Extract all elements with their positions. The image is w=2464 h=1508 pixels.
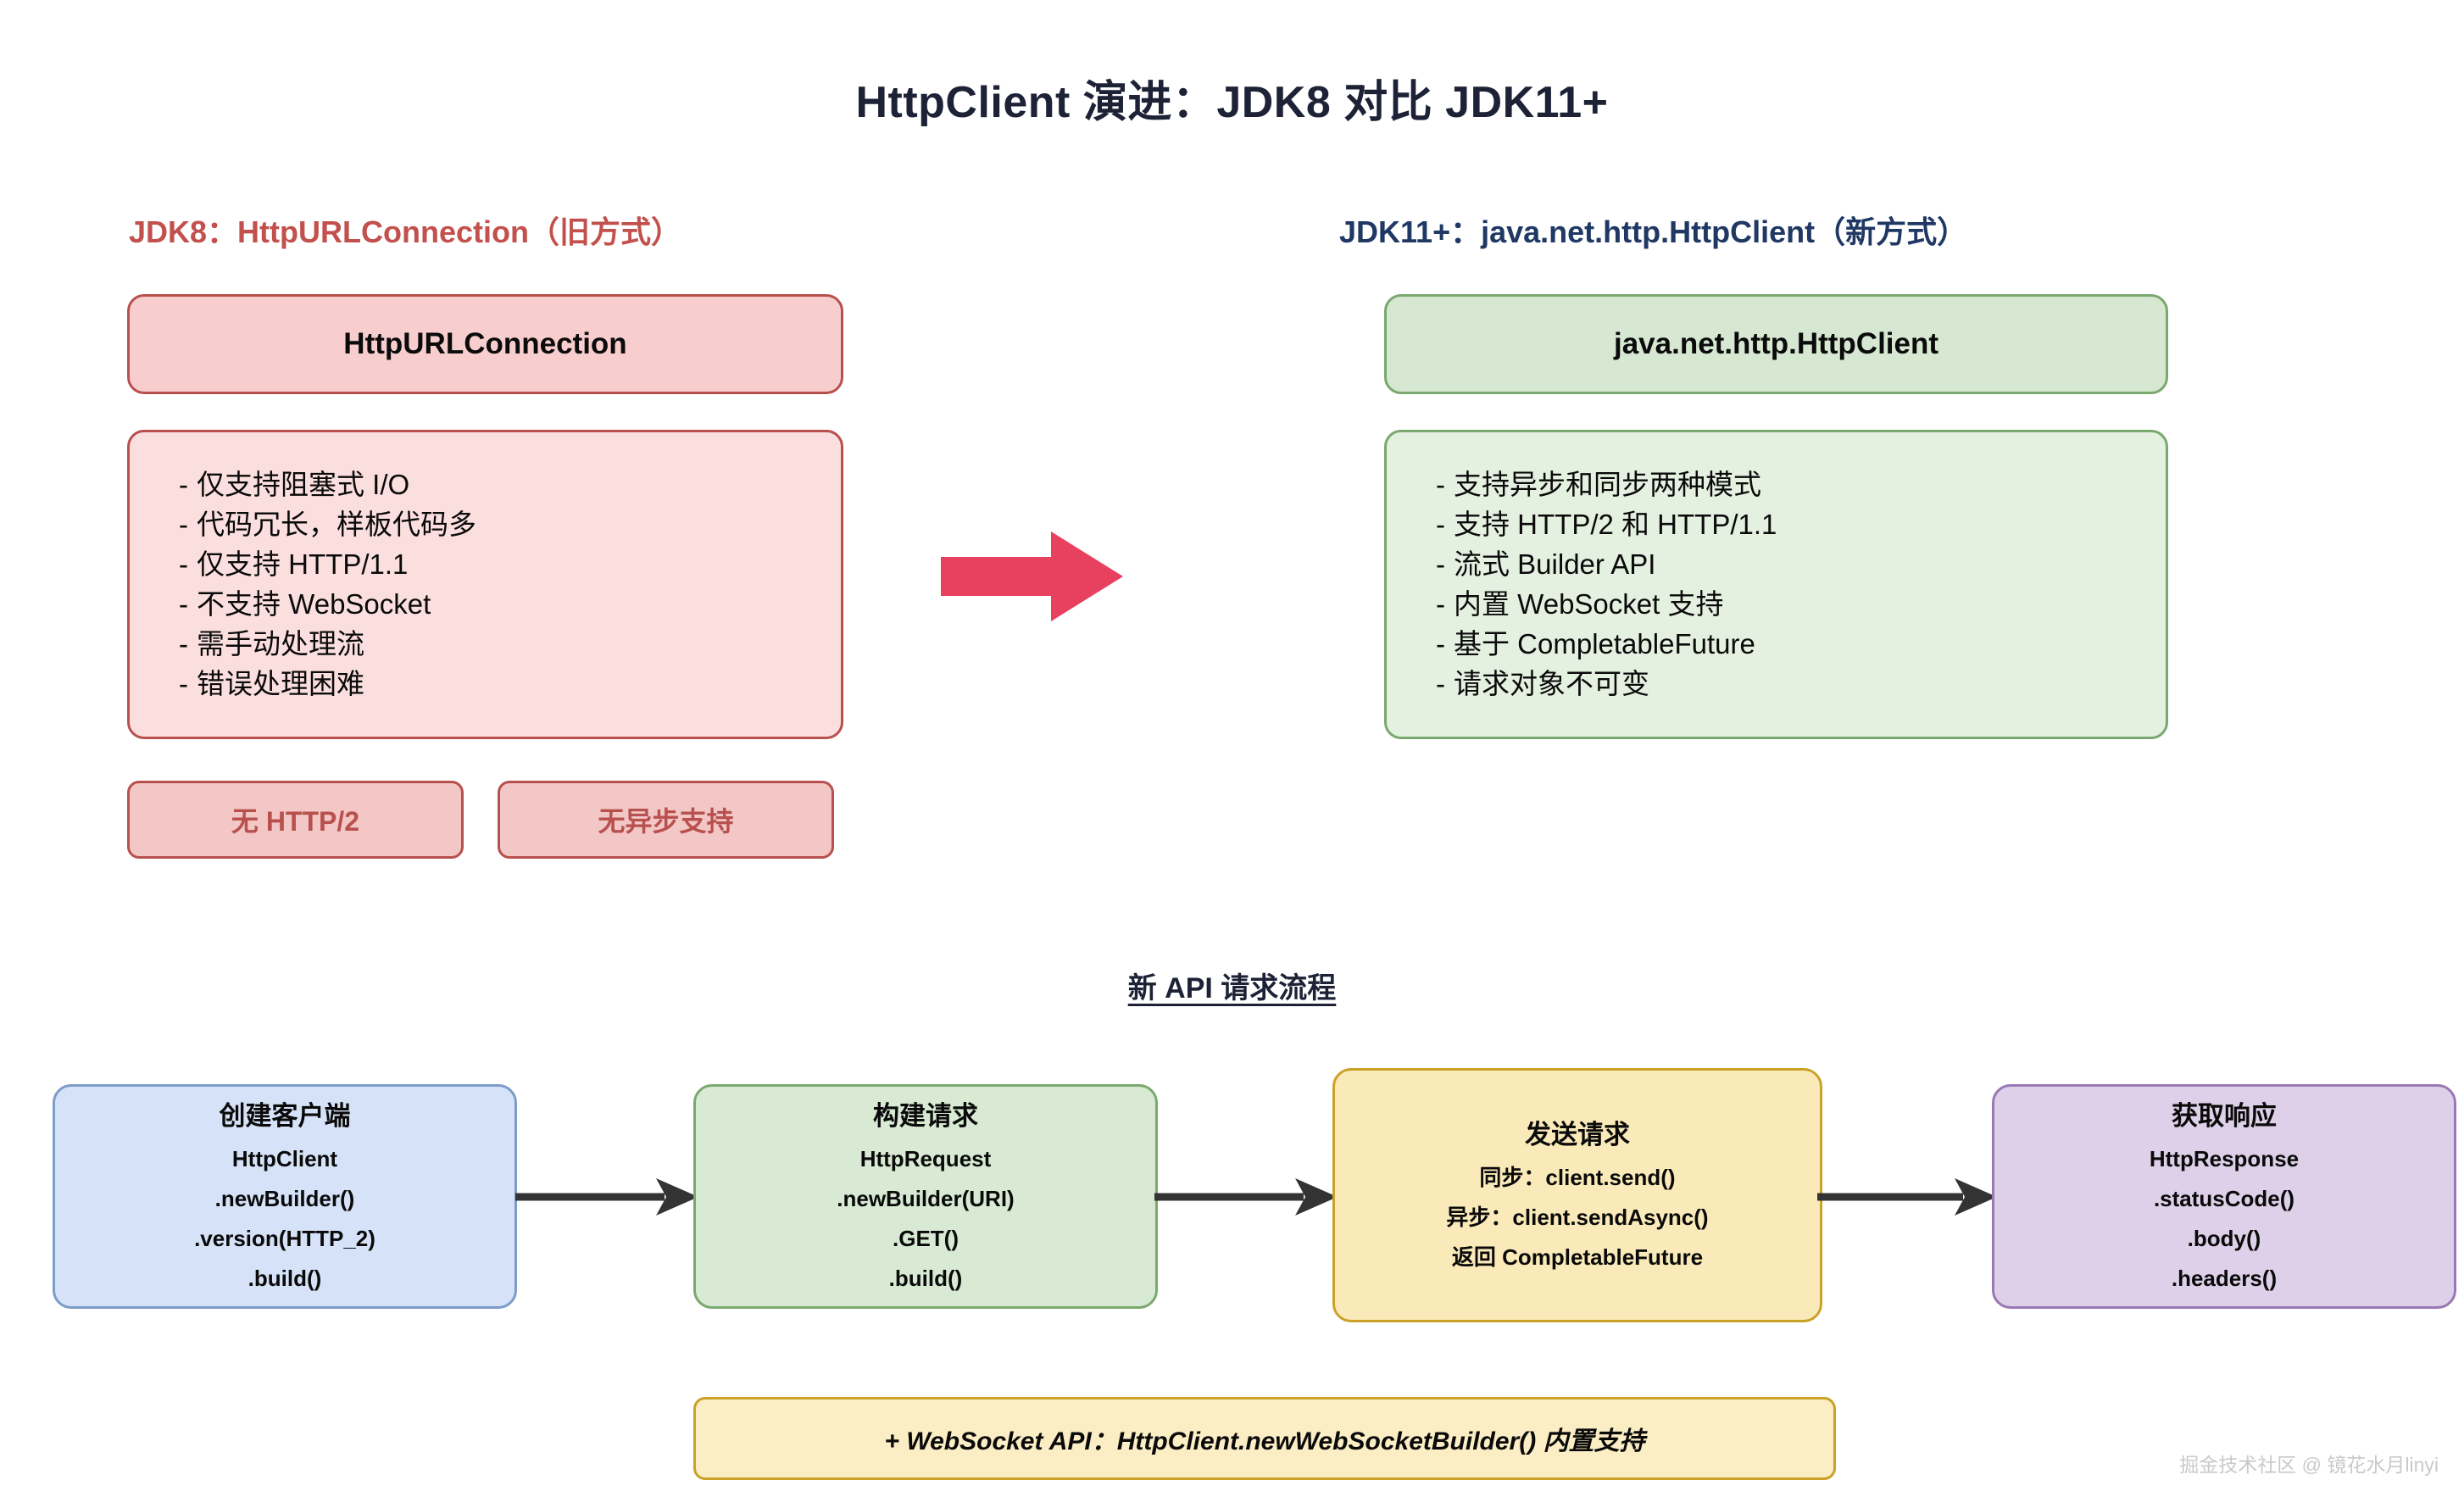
flow-step-line: .newBuilder(): [215, 1179, 355, 1219]
flow-step-send-request: 发送请求 同步：client.send() 异步：client.sendAsyn…: [1332, 1068, 1822, 1322]
status-badge-no-async: 无异步支持: [498, 781, 834, 859]
bullet-dash: -: [179, 469, 188, 500]
list-item: -基于 CompletableFuture: [1436, 624, 2166, 664]
jdk8-feature-list-box: -仅支持阻塞式 I/O -代码冗长，样板代码多 -仅支持 HTTP/1.1 -不…: [127, 430, 843, 739]
websocket-note-box: + WebSocket API：HttpClient.newWebSocketB…: [693, 1397, 1836, 1480]
bullet-dash: -: [179, 548, 188, 580]
list-item-label: 支持 HTTP/2 和 HTTP/1.1: [1454, 509, 1777, 540]
watermark: 掘金技术社区 @ 镜花水月linyi: [2179, 1449, 2439, 1477]
flow-step-line: .GET(): [893, 1219, 959, 1259]
flow-step-title: 创建客户端: [220, 1094, 351, 1132]
flow-step-title: 构建请求: [873, 1094, 978, 1132]
right-arrow-icon: [941, 530, 1123, 623]
jdk8-column-heading: JDK8：HttpURLConnection（旧方式）: [129, 208, 681, 252]
bullet-dash: -: [1436, 628, 1445, 659]
status-badge-no-http2: 无 HTTP/2: [127, 781, 464, 859]
list-item-label: 代码冗长，样板代码多: [197, 509, 476, 540]
flow-step-line: HttpClient: [232, 1139, 337, 1179]
list-item-label: 仅支持 HTTP/1.1: [197, 548, 408, 580]
flow-step-line: .headers(): [2172, 1259, 2277, 1299]
list-item-label: 支持异步和同步两种模式: [1454, 469, 1761, 500]
list-item: -请求对象不可变: [1436, 664, 2166, 704]
list-item-label: 错误处理困难: [197, 668, 364, 699]
flow-section-title: 新 API 请求流程: [0, 965, 2464, 1006]
flow-step-line: .newBuilder(URI): [837, 1179, 1014, 1219]
flow-step-line: 异步：client.sendAsync(): [1446, 1198, 1708, 1238]
flow-step-title: 发送请求: [1525, 1113, 1630, 1151]
bullet-dash: -: [179, 628, 188, 659]
bullet-dash: -: [179, 668, 188, 699]
list-item: -支持 HTTP/2 和 HTTP/1.1: [1436, 504, 2166, 544]
httpurlconnection-header-box: HttpURLConnection: [127, 294, 843, 394]
jdk11-column-heading: JDK11+：java.net.http.HttpClient（新方式）: [1339, 208, 1967, 252]
bullet-dash: -: [1436, 548, 1445, 580]
flow-step-line: HttpRequest: [860, 1139, 992, 1179]
bullet-dash: -: [179, 588, 188, 620]
list-item: -仅支持阻塞式 I/O: [179, 465, 841, 504]
flow-section-title-label: 新 API 请求流程: [1128, 972, 1337, 1004]
list-item-label: 基于 CompletableFuture: [1454, 628, 1755, 659]
flow-step-line: 返回 CompletableFuture: [1452, 1238, 1703, 1277]
bullet-dash: -: [1436, 509, 1445, 540]
list-item: -错误处理困难: [179, 664, 841, 704]
page-title: HttpClient 演进：JDK8 对比 JDK11+: [0, 66, 2464, 130]
list-item-label: 请求对象不可变: [1454, 668, 1649, 699]
list-item: -不支持 WebSocket: [179, 584, 841, 624]
httpclient-header-box: java.net.http.HttpClient: [1384, 294, 2168, 394]
list-item-label: 流式 Builder API: [1454, 548, 1655, 580]
flow-step-line: 同步：client.send(): [1479, 1158, 1675, 1198]
bullet-dash: -: [1436, 588, 1445, 620]
list-item-label: 需手动处理流: [197, 628, 364, 659]
flow-step-line: .statusCode(): [2154, 1179, 2294, 1219]
flow-arrow-icon: [1817, 1173, 1997, 1221]
httpclient-label: java.net.http.HttpClient: [1614, 327, 1938, 361]
list-item: -代码冗长，样板代码多: [179, 504, 841, 544]
list-item: -支持异步和同步两种模式: [1436, 465, 2166, 504]
list-item: -仅支持 HTTP/1.1: [179, 544, 841, 584]
flow-step-create-client: 创建客户端 HttpClient .newBuilder() .version(…: [53, 1084, 517, 1309]
flow-step-line: HttpResponse: [2150, 1139, 2299, 1179]
list-item-label: 内置 WebSocket 支持: [1454, 588, 1723, 620]
flow-step-title: 获取响应: [2172, 1094, 2277, 1132]
list-item-label: 不支持 WebSocket: [197, 588, 431, 620]
flow-arrow-icon: [1154, 1173, 1338, 1221]
bullet-dash: -: [1436, 469, 1445, 500]
list-item: -需手动处理流: [179, 624, 841, 664]
httpurlconnection-label: HttpURLConnection: [343, 327, 626, 361]
flow-step-build-request: 构建请求 HttpRequest .newBuilder(URI) .GET()…: [693, 1084, 1158, 1309]
flow-step-get-response: 获取响应 HttpResponse .statusCode() .body() …: [1992, 1084, 2456, 1309]
list-item: -流式 Builder API: [1436, 544, 2166, 584]
bullet-dash: -: [1436, 668, 1445, 699]
flow-step-line: .build(): [248, 1259, 322, 1299]
flow-step-line: .build(): [889, 1259, 963, 1299]
flow-arrow-icon: [515, 1173, 698, 1221]
flow-step-line: .body(): [2188, 1219, 2261, 1259]
websocket-note-label: + WebSocket API：HttpClient.newWebSocketB…: [884, 1420, 1644, 1457]
list-item-label: 仅支持阻塞式 I/O: [197, 469, 409, 500]
list-item: -内置 WebSocket 支持: [1436, 584, 2166, 624]
jdk11-feature-list-box: -支持异步和同步两种模式 -支持 HTTP/2 和 HTTP/1.1 -流式 B…: [1384, 430, 2168, 739]
bullet-dash: -: [179, 509, 188, 540]
flow-step-line: .version(HTTP_2): [194, 1219, 375, 1259]
